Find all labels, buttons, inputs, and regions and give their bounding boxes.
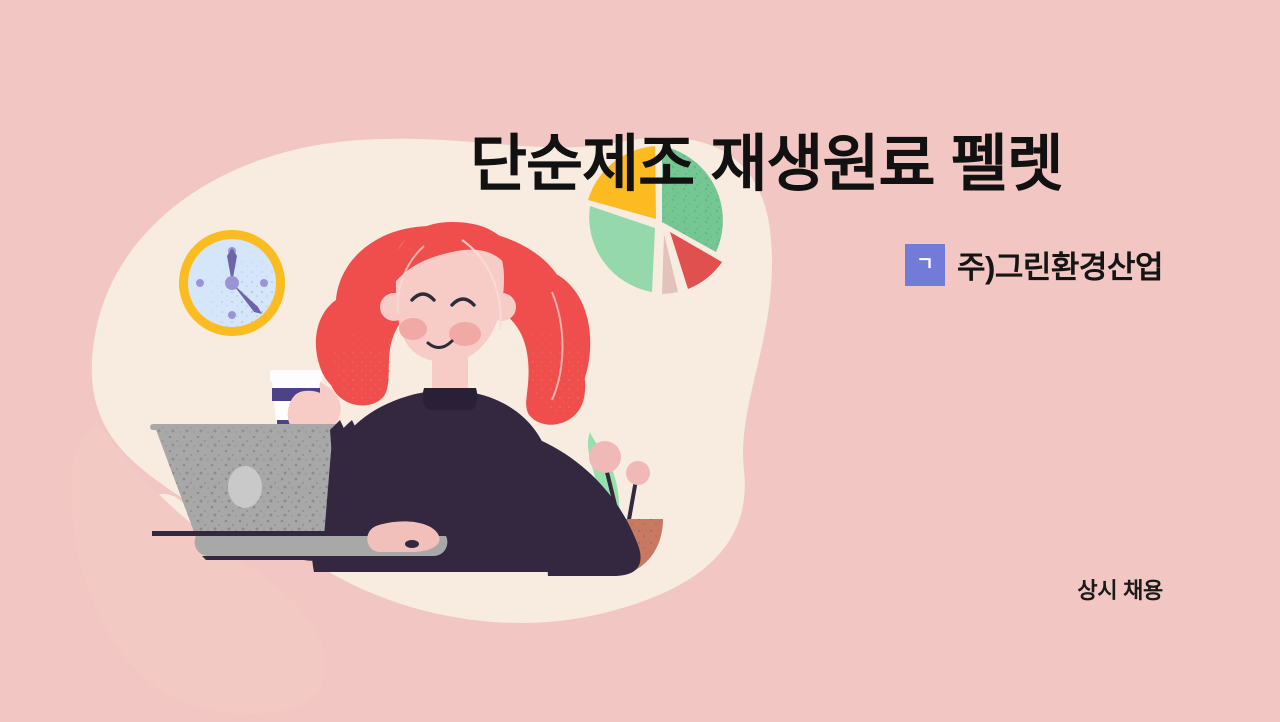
- flower-head-1: [589, 441, 621, 473]
- trackpad-shadow: [405, 540, 419, 548]
- clock-marker-3: [260, 279, 268, 287]
- cup-lid: [270, 370, 322, 382]
- ear-right: [488, 293, 516, 321]
- laptop-logo: [228, 466, 262, 508]
- sweater-collar: [423, 388, 478, 410]
- wall-clock-illustration: [179, 230, 285, 336]
- clock-marker-9: [196, 279, 204, 287]
- page-title: 단순제조 재생원료 펠렛: [470, 132, 1063, 197]
- ear-left: [380, 293, 408, 321]
- company-logo-badge: ㄱ: [905, 244, 945, 286]
- company-row: ㄱ 주)그린환경산업: [905, 242, 1163, 287]
- flower-head-2: [626, 461, 650, 485]
- laptop-hinge: [152, 531, 332, 536]
- company-name: 주)그린환경산업: [957, 242, 1163, 287]
- hiring-status-label: 상시 채용: [1077, 573, 1163, 605]
- clock-marker-6: [228, 311, 236, 319]
- clock-center-pin: [225, 276, 239, 290]
- illustration-artwork: [0, 0, 1280, 722]
- cheek-right: [449, 322, 481, 346]
- cheek-left: [399, 318, 427, 340]
- poster-canvas: 단순제조 재생원료 펠렛 ㄱ 주)그린환경산업 상시 채용: [0, 0, 1280, 722]
